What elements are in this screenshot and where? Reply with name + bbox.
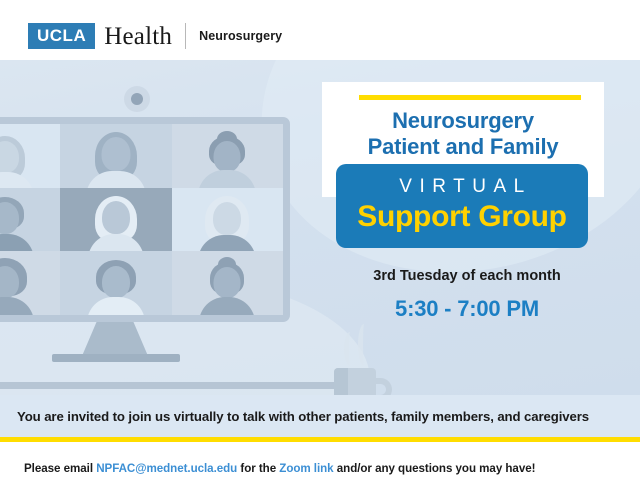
participant-tile — [0, 124, 60, 188]
participant-tile — [0, 188, 60, 252]
ucla-logo-mark: UCLA — [28, 23, 95, 49]
invitation-band: You are invited to join us virtually to … — [0, 395, 640, 437]
logo-divider — [185, 23, 186, 49]
contact-line: Please email NPFAC@mednet.ucla.edu for t… — [0, 462, 535, 475]
participant-tile-active — [60, 188, 171, 252]
support-group-label: Support Group — [357, 200, 566, 235]
title-line-1: Neurosurgery — [322, 108, 604, 134]
health-logo-word: Health — [104, 24, 172, 49]
meeting-frequency: 3rd Tuesday of each month — [322, 268, 612, 284]
participant-tile — [60, 124, 171, 188]
mug-handle — [372, 378, 392, 395]
virtual-support-group-banner: VIRTUAL Support Group — [336, 164, 588, 248]
monitor-stand-base — [52, 354, 180, 362]
zoom-link[interactable]: Zoom link — [279, 462, 333, 475]
contact-prefix: Please email — [24, 462, 96, 475]
video-call-grid — [0, 124, 283, 315]
meeting-time: 5:30 - 7:00 PM — [322, 296, 612, 322]
mug-shading — [334, 368, 348, 395]
page-footer: Please email NPFAC@mednet.ucla.edu for t… — [0, 442, 640, 495]
ucla-health-logo: UCLA Health Neurosurgery — [28, 23, 282, 49]
title-text-block: Neurosurgery Patient and Family — [322, 108, 604, 159]
coffee-mug-icon — [330, 354, 400, 395]
participant-tile — [172, 124, 283, 188]
monitor-screen — [0, 117, 290, 322]
contact-suffix: and/or any questions you may have! — [334, 462, 536, 475]
invitation-text: You are invited to join us virtually to … — [0, 409, 589, 424]
monitor-stand-neck — [82, 322, 148, 356]
contact-middle: for the — [237, 462, 279, 475]
participant-tile — [172, 251, 283, 315]
participant-tile — [0, 251, 60, 315]
email-link[interactable]: NPFAC@mednet.ucla.edu — [96, 462, 237, 475]
webcam-icon — [124, 86, 150, 112]
webcam-lens — [131, 93, 143, 105]
participant-tile — [60, 251, 171, 315]
steam-wisp — [358, 324, 370, 366]
monitor-illustration — [0, 82, 322, 382]
steam-wisp — [344, 332, 356, 366]
department-label: Neurosurgery — [199, 29, 282, 43]
page-header: UCLA Health Neurosurgery — [0, 0, 640, 60]
virtual-label: VIRTUAL — [392, 177, 531, 198]
yellow-accent-rule — [359, 95, 581, 100]
participant-tile — [172, 188, 283, 252]
title-line-2: Patient and Family — [322, 134, 604, 160]
desk-surface — [0, 382, 372, 389]
